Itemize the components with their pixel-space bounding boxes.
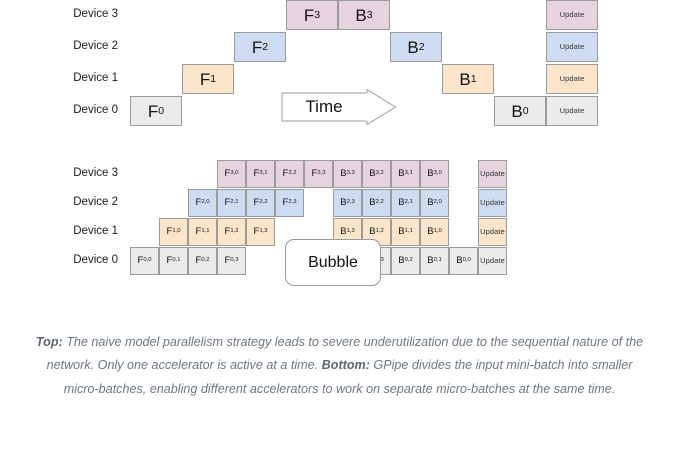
device-row-label: Device 2 — [8, 197, 118, 209]
device-row-label: Device 2 — [8, 41, 118, 53]
figure-caption: Top: The naive model parallelism strateg… — [34, 331, 645, 401]
forward-pass-cell: F3,3 — [304, 160, 333, 188]
backward-pass-cell: B2,1 — [391, 189, 420, 217]
backward-pass-cell: B0,0 — [449, 247, 478, 275]
update-cell: Update — [478, 189, 507, 217]
forward-pass-cell: F3 — [286, 0, 338, 30]
forward-pass-cell: F3,0 — [217, 160, 246, 188]
backward-pass-cell: B3,2 — [362, 160, 391, 188]
forward-pass-cell: F1,2 — [217, 218, 246, 246]
update-cell: Update — [546, 64, 598, 94]
forward-pass-cell: F2,0 — [188, 189, 217, 217]
update-cell: Update — [478, 247, 507, 275]
caption-top-keyword: Top: — [36, 335, 63, 349]
time-arrow-label: Time — [281, 93, 367, 121]
backward-pass-cell: B3,3 — [333, 160, 362, 188]
backward-pass-cell: B2,2 — [362, 189, 391, 217]
update-cell: Update — [546, 0, 598, 30]
backward-pass-cell: B0 — [494, 96, 546, 126]
forward-pass-cell: F3,2 — [275, 160, 304, 188]
forward-pass-cell: F0 — [130, 96, 182, 126]
gpipe-figure: Device 0F0B0UpdateDevice 1F1B1UpdateDevi… — [0, 0, 679, 451]
caption-bottom-keyword: Bottom: — [322, 358, 370, 372]
device-row-label: Device 3 — [8, 9, 118, 21]
forward-pass-cell: F2,2 — [246, 189, 275, 217]
backward-pass-cell: B3,1 — [391, 160, 420, 188]
forward-pass-cell: F1,3 — [246, 218, 275, 246]
forward-pass-cell: F1,0 — [159, 218, 188, 246]
naive-parallelism-chart: Device 0F0B0UpdateDevice 1F1B1UpdateDevi… — [0, 0, 679, 150]
device-row-label: Device 1 — [8, 226, 118, 238]
bubble-box: Bubble — [285, 239, 381, 286]
forward-pass-cell: F2,3 — [275, 189, 304, 217]
backward-pass-cell: B2,3 — [333, 189, 362, 217]
device-row-label: Device 0 — [8, 255, 118, 267]
update-cell: Update — [478, 218, 507, 246]
backward-pass-cell: B1 — [442, 64, 494, 94]
backward-pass-cell: B1,0 — [420, 218, 449, 246]
backward-pass-cell: B1,1 — [391, 218, 420, 246]
forward-pass-cell: F1,1 — [188, 218, 217, 246]
backward-pass-cell: B2,0 — [420, 189, 449, 217]
backward-pass-cell: B2 — [390, 32, 442, 62]
time-arrow: Time — [281, 89, 397, 125]
forward-pass-cell: F3,1 — [246, 160, 275, 188]
device-row-label: Device 3 — [8, 168, 118, 180]
update-cell: Update — [546, 32, 598, 62]
backward-pass-cell: B3 — [338, 0, 390, 30]
update-cell: Update — [546, 96, 598, 126]
forward-pass-cell: F1 — [182, 64, 234, 94]
forward-pass-cell: F0,3 — [217, 247, 246, 275]
forward-pass-cell: F0,0 — [130, 247, 159, 275]
forward-pass-cell: F0,2 — [188, 247, 217, 275]
forward-pass-cell: F2 — [234, 32, 286, 62]
update-cell: Update — [478, 160, 507, 188]
backward-pass-cell: B0,2 — [391, 247, 420, 275]
forward-pass-cell: F0,1 — [159, 247, 188, 275]
backward-pass-cell: B0,1 — [420, 247, 449, 275]
device-row-label: Device 1 — [8, 73, 118, 85]
backward-pass-cell: B3,0 — [420, 160, 449, 188]
forward-pass-cell: F2,1 — [217, 189, 246, 217]
device-row-label: Device 0 — [8, 105, 118, 117]
